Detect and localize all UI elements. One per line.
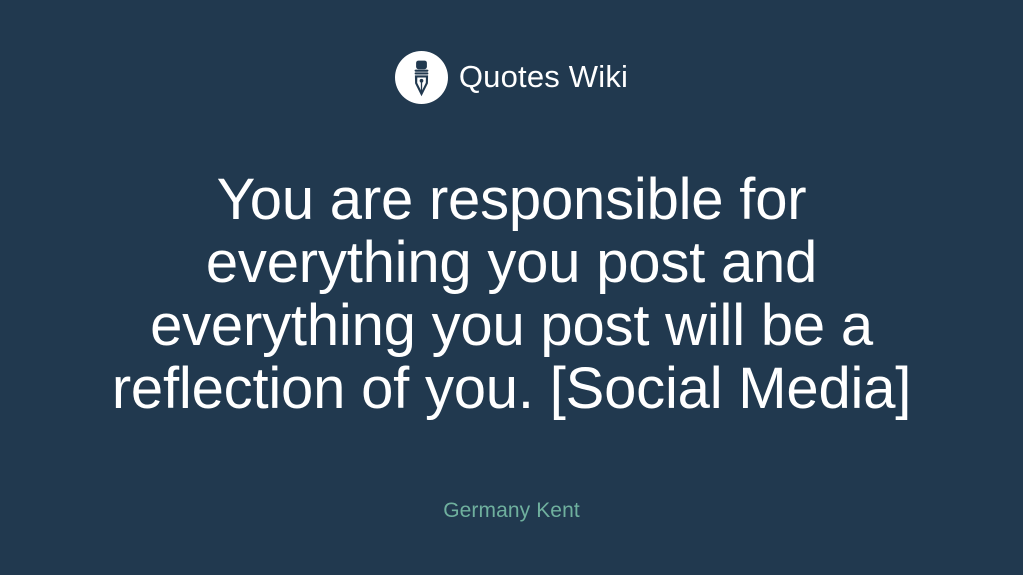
quote-card: Quotes Wiki You are responsible for ever… [0, 0, 1023, 575]
fountain-pen-nib-icon [395, 51, 448, 104]
quote-line: reflection of you. [Social Media] [0, 357, 1023, 420]
brand-name: Quotes Wiki [459, 61, 628, 92]
quote-line: You are responsible for [0, 168, 1023, 231]
quote-text: You are responsible for everything you p… [0, 168, 1023, 420]
quote-author: Germany Kent [0, 498, 1023, 524]
quote-line: everything you post will be a [0, 294, 1023, 357]
brand-logo[interactable]: Quotes Wiki [0, 48, 1023, 106]
quote-line: everything you post and [0, 231, 1023, 294]
